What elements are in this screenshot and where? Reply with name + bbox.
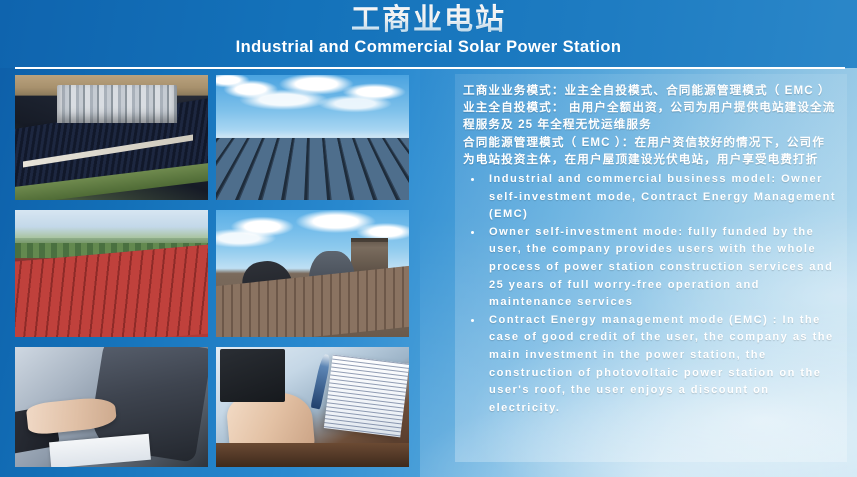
photo-business-handshake-office xyxy=(15,347,208,467)
plant-walkway-band xyxy=(23,134,193,167)
photo-flat-roof-solar-array-sky xyxy=(216,75,409,200)
bullet-point-icon xyxy=(471,231,474,234)
tree-line xyxy=(15,243,208,258)
header-divider-rule xyxy=(15,67,845,69)
page-title-english: Industrial and Commercial Solar Power St… xyxy=(0,36,857,58)
photo-aerial-red-roof-factories-pv xyxy=(15,210,208,337)
rooftop-pv-strip xyxy=(15,259,208,311)
photo-signing-contract-pen-document xyxy=(216,347,409,467)
plant-ground-band xyxy=(15,163,208,200)
bullet-point-icon xyxy=(471,178,474,181)
chinese-paragraph-1: 工商业业务模式：业主全自投模式、合同能源管理模式（ EMC ） xyxy=(463,82,837,99)
photo-aerial-industrial-plant-rooftop-pv xyxy=(15,75,208,200)
worker-figure-right xyxy=(309,251,355,317)
worker-figure-left xyxy=(240,258,297,318)
english-bullet-item-1: Industrial and commercial business model… xyxy=(463,171,837,224)
photo-workers-installing-roof-panels xyxy=(216,210,409,337)
slide-header: 工商业电站 Industrial and Commercial Solar Po… xyxy=(0,0,857,68)
laptop-screen xyxy=(220,349,286,402)
desk-papers xyxy=(49,434,151,467)
page-title-chinese: 工商业电站 xyxy=(0,3,857,37)
desk-surface xyxy=(216,443,409,467)
english-bullet-text-2: Owner self-investment mode: fully funded… xyxy=(489,226,833,308)
chinese-paragraph-2: 业主全自投模式： 由用户全额出资，公司为用户提供电站建设全流程服务及 25 年全… xyxy=(463,99,837,133)
english-bullet-item-3: Contract Energy management mode (EMC) : … xyxy=(463,312,837,418)
roof-chimney xyxy=(351,238,388,281)
english-bullet-text-1: Industrial and commercial business model… xyxy=(489,173,836,220)
chinese-paragraph-block: 工商业业务模式：业主全自投模式、合同能源管理模式（ EMC ） 业主全自投模式：… xyxy=(463,82,837,168)
chinese-paragraph-3: 合同能源管理模式（ EMC ）：在用户资信较好的情况下，公司作为电站投资主体，在… xyxy=(463,134,837,168)
bullet-point-icon xyxy=(471,319,474,322)
pen xyxy=(311,354,332,410)
english-bullet-list: Industrial and commercial business model… xyxy=(463,171,837,417)
content-text-panel: 工商业业务模式：业主全自投模式、合同能源管理模式（ EMC ） 业主全自投模式：… xyxy=(455,74,847,462)
english-bullet-item-2: Owner self-investment mode: fully funded… xyxy=(463,224,837,312)
english-bullet-text-3: Contract Energy management mode (EMC) : … xyxy=(489,314,834,414)
slide-root: 工商业电站 Industrial and Commercial Solar Po… xyxy=(0,0,857,477)
photo-gallery-grid xyxy=(15,75,409,469)
